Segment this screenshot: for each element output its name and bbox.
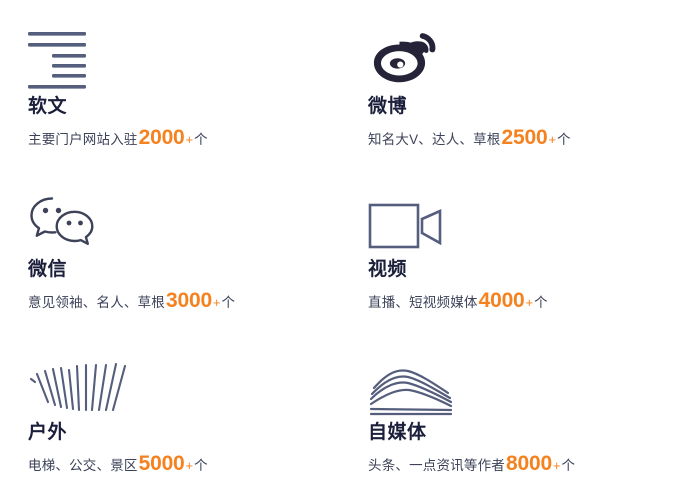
desc-plus-sign: +	[186, 132, 195, 148]
desc-number: 3000	[165, 290, 213, 311]
wechat-bubbles-icon	[28, 181, 340, 253]
desc-number: 8000	[505, 453, 553, 474]
desc-number: 2500	[501, 127, 549, 148]
card-description: 主要门户网站入驻 2000 + 个	[28, 127, 340, 148]
weibo-logo-icon	[368, 18, 680, 90]
card-description: 直播、短视频媒体 4000 + 个	[368, 290, 680, 311]
desc-unit: 个	[534, 295, 548, 311]
outdoor-rays-icon	[28, 344, 340, 416]
desc-plus-sign: +	[186, 458, 195, 474]
media-channels-grid: 软文 主要门户网站入驻 2000 + 个 微博 知名大V、达人、草	[0, 0, 700, 500]
card-title: 视频	[368, 259, 680, 281]
card-description: 知名大V、达人、草根 2500 + 个	[368, 127, 680, 148]
desc-number: 5000	[138, 453, 186, 474]
desc-number: 4000	[478, 290, 526, 311]
desc-plus-sign: +	[553, 458, 562, 474]
card-title: 自媒体	[368, 422, 680, 444]
desc-number: 2000	[138, 127, 186, 148]
card-title: 微博	[368, 96, 680, 118]
desc-unit: 个	[557, 132, 571, 148]
desc-label: 主要门户网站入驻	[28, 132, 138, 148]
desc-unit: 个	[222, 295, 236, 311]
desc-plus-sign: +	[526, 295, 535, 311]
card-title: 软文	[28, 96, 340, 118]
article-lines-icon	[28, 18, 340, 90]
desc-label: 直播、短视频媒体	[368, 295, 478, 311]
desc-unit: 个	[194, 132, 208, 148]
desc-unit: 个	[194, 458, 208, 474]
channel-card-video[interactable]: 视频 直播、短视频媒体 4000 + 个	[340, 171, 680, 334]
desc-label: 头条、一点资讯等作者	[368, 458, 505, 474]
desc-plus-sign: +	[548, 132, 557, 148]
video-camera-icon	[368, 181, 680, 253]
channel-card-weibo[interactable]: 微博 知名大V、达人、草根 2500 + 个	[340, 8, 680, 171]
card-description: 头条、一点资讯等作者 8000 + 个	[368, 453, 680, 474]
desc-label: 知名大V、达人、草根	[368, 132, 501, 148]
channel-card-self-media[interactable]: 自媒体 头条、一点资讯等作者 8000 + 个	[340, 334, 680, 497]
desc-label: 意见领袖、名人、草根	[28, 295, 165, 311]
channel-card-wechat[interactable]: 微信 意见领袖、名人、草根 3000 + 个	[0, 171, 340, 334]
self-media-stack-icon	[368, 344, 680, 416]
desc-plus-sign: +	[213, 295, 222, 311]
card-title: 微信	[28, 259, 340, 281]
card-description: 电梯、公交、景区 5000 + 个	[28, 453, 340, 474]
card-title: 户外	[28, 422, 340, 444]
desc-unit: 个	[562, 458, 576, 474]
channel-card-outdoor[interactable]: 户外 电梯、公交、景区 5000 + 个	[0, 334, 340, 497]
card-description: 意见领袖、名人、草根 3000 + 个	[28, 290, 340, 311]
desc-label: 电梯、公交、景区	[28, 458, 138, 474]
channel-card-ruanwen[interactable]: 软文 主要门户网站入驻 2000 + 个	[0, 8, 340, 171]
